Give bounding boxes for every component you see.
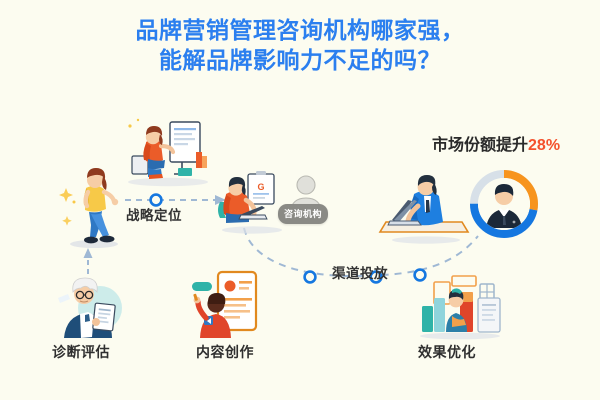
woman-presenting-whiteboard-icon [118, 112, 214, 188]
step-label-strategy: 战略定位 [126, 204, 182, 224]
expert-report-icon [44, 268, 134, 340]
man-suit-laptop-icon [378, 170, 470, 244]
pillar-label-content: 内容创作 [196, 342, 254, 362]
pillar-label-optimize: 效果优化 [418, 342, 476, 362]
pillar-label-diagnose: 诊断评估 [52, 342, 110, 362]
flow-node-2[interactable] [305, 272, 316, 283]
step-label-channel: 渠道投放 [332, 262, 388, 282]
market-share-donut-chart [466, 166, 542, 242]
businessman-avatar-icon [478, 178, 530, 230]
consultant-agency-marker[interactable]: 咨询机构 [280, 172, 332, 228]
svg-text:G: G [257, 182, 264, 192]
writing-board-icon [182, 268, 270, 340]
man-tablet-design-icon: G [208, 168, 290, 234]
consultant-agency-label: 咨询机构 [278, 204, 328, 224]
woman-walking-icon [58, 162, 128, 250]
infographic-canvas: 品牌营销管理咨询机构哪家强， 能解品牌影响力不足的吗？ 市场份额提升28% [0, 0, 600, 400]
charts-analytics-icon [408, 272, 512, 340]
